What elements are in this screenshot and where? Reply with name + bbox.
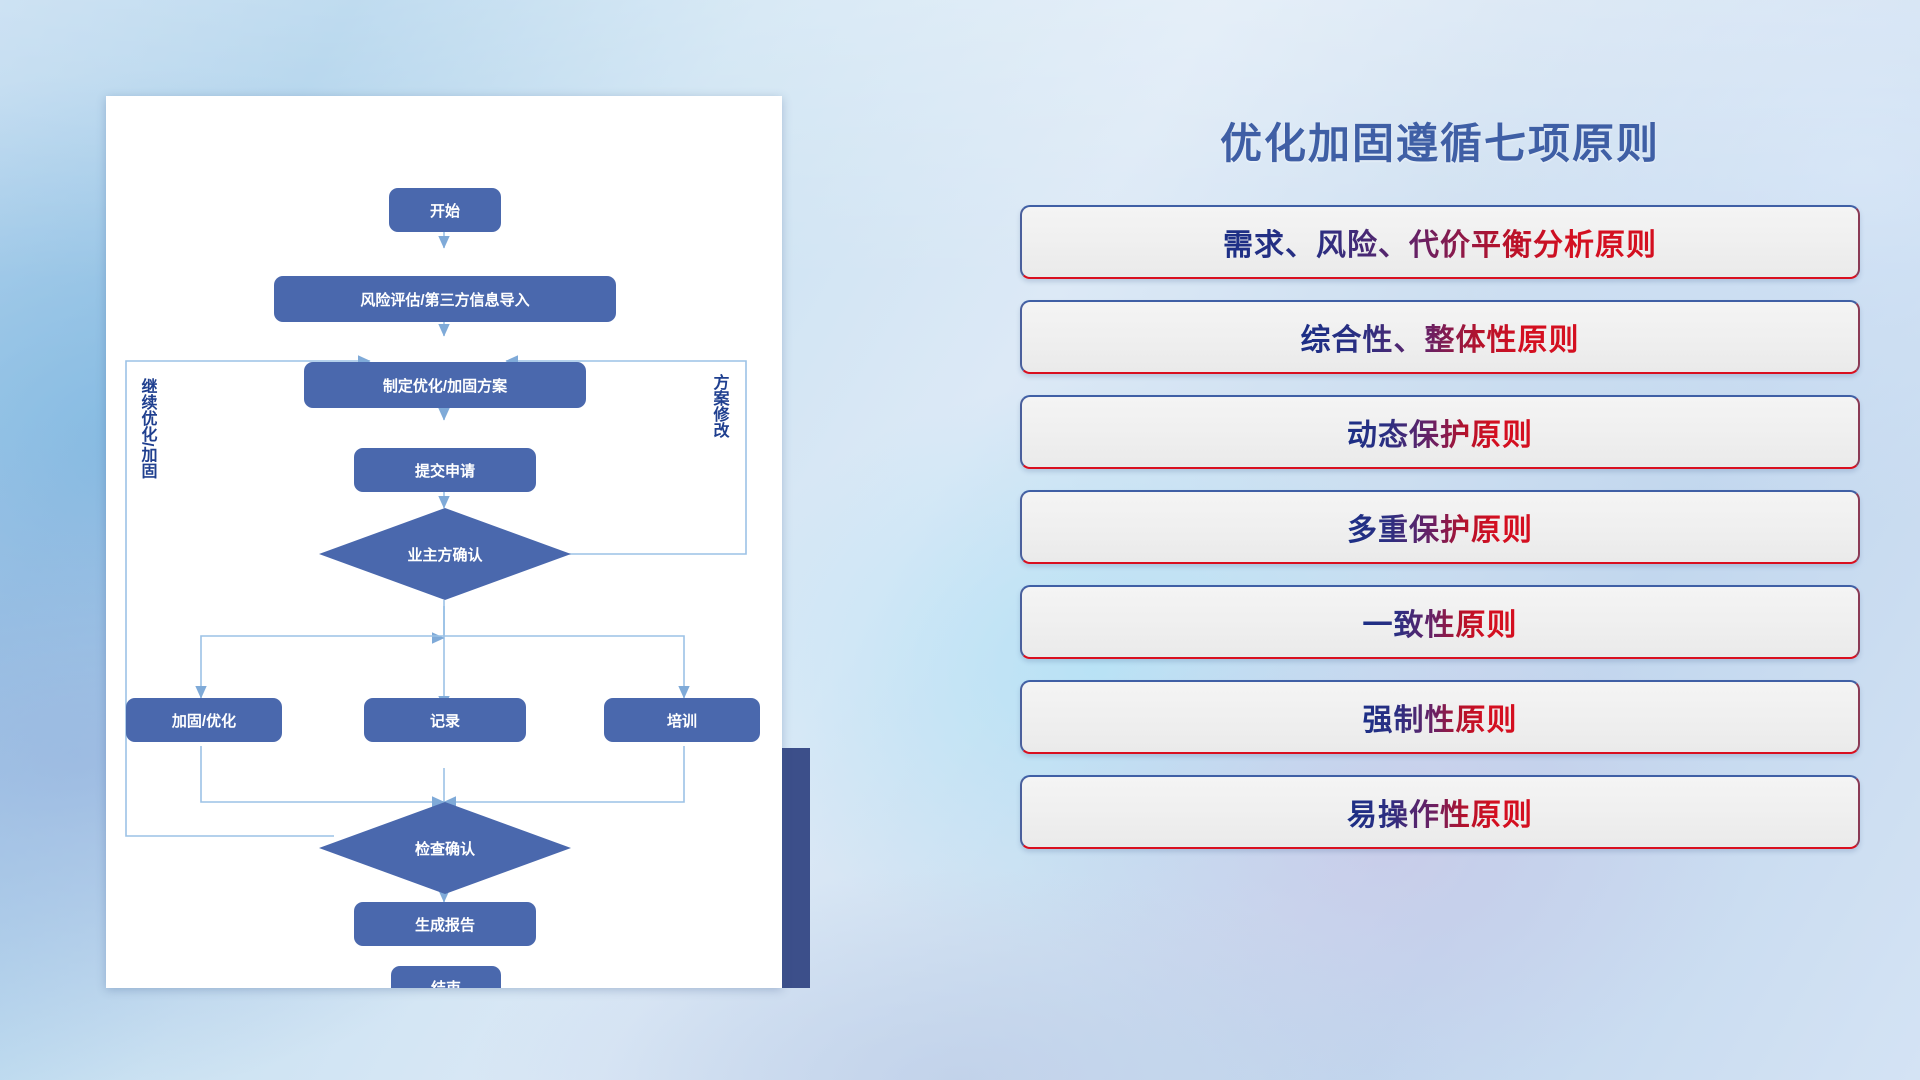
principle-card-6[interactable]: 强制性原则 (1020, 680, 1860, 754)
flow-node-plan[interactable]: 制定优化/加固方案 (304, 362, 586, 408)
flow-node-train[interactable]: 培训 (604, 698, 760, 742)
principle-label: 一致性原则 (1363, 600, 1518, 644)
principle-card-5[interactable]: 一致性原则 (1020, 585, 1860, 659)
flow-node-owner-label: 业主方确认 (407, 546, 483, 564)
principle-label: 动态保护原则 (1347, 410, 1533, 454)
principle-card-1[interactable]: 需求、风险、代价平衡分析原则 (1020, 205, 1860, 279)
principle-card-4[interactable]: 多重保护原则 (1020, 490, 1860, 564)
flow-node-submit[interactable]: 提交申请 (354, 448, 536, 492)
flowchart-panel: 开始 风险评估/第三方信息导入 制定优化/加固方案 提交申请 业主方确认 加固/… (106, 96, 782, 988)
flow-node-end[interactable]: 结束 (391, 966, 501, 988)
flow-node-report-label: 生成报告 (415, 916, 475, 934)
flow-node-start[interactable]: 开始 (389, 188, 501, 232)
flow-node-report[interactable]: 生成报告 (354, 902, 536, 946)
page-title: 优化加固遵循七项原则 (1020, 110, 1860, 171)
principle-card-7[interactable]: 易操作性原则 (1020, 775, 1860, 849)
flowchart-diagram: 开始 风险评估/第三方信息导入 制定优化/加固方案 提交申请 业主方确认 加固/… (106, 96, 782, 988)
flow-node-reinforce-label: 加固/优化 (171, 712, 236, 730)
flow-node-submit-label: 提交申请 (415, 462, 475, 480)
flow-node-owner[interactable]: 业主方确认 (319, 508, 571, 600)
principle-card-3[interactable]: 动态保护原则 (1020, 395, 1860, 469)
flow-node-start-label: 开始 (430, 202, 460, 220)
flow-node-check-label: 检查确认 (415, 840, 476, 858)
principles-panel: 优化加固遵循七项原则 需求、风险、代价平衡分析原则 综合性、整体性原则 动态保护… (1020, 96, 1860, 1006)
flow-node-train-label: 培训 (667, 712, 697, 730)
flow-node-end-label: 结束 (431, 979, 462, 988)
flow-node-record-label: 记录 (430, 713, 460, 730)
flow-node-plan-label: 制定优化/加固方案 (383, 377, 508, 395)
principle-label: 多重保护原则 (1347, 505, 1533, 549)
principle-label: 需求、风险、代价平衡分析原则 (1223, 220, 1657, 264)
flow-node-risk[interactable]: 风险评估/第三方信息导入 (274, 276, 616, 322)
flow-node-record[interactable]: 记录 (364, 698, 526, 742)
flow-edge-label-left-loop: 继续优化/加固 (139, 377, 159, 479)
principle-label: 易操作性原则 (1347, 790, 1533, 834)
principle-card-2[interactable]: 综合性、整体性原则 (1020, 300, 1860, 374)
flow-node-reinforce[interactable]: 加固/优化 (126, 698, 282, 742)
flow-node-risk-label: 风险评估/第三方信息导入 (360, 291, 529, 309)
flow-edge-label-right-loop: 方案修改 (711, 373, 731, 439)
principle-label: 强制性原则 (1363, 695, 1518, 739)
flow-node-check[interactable]: 检查确认 (319, 802, 571, 894)
principle-label: 综合性、整体性原则 (1301, 315, 1580, 359)
